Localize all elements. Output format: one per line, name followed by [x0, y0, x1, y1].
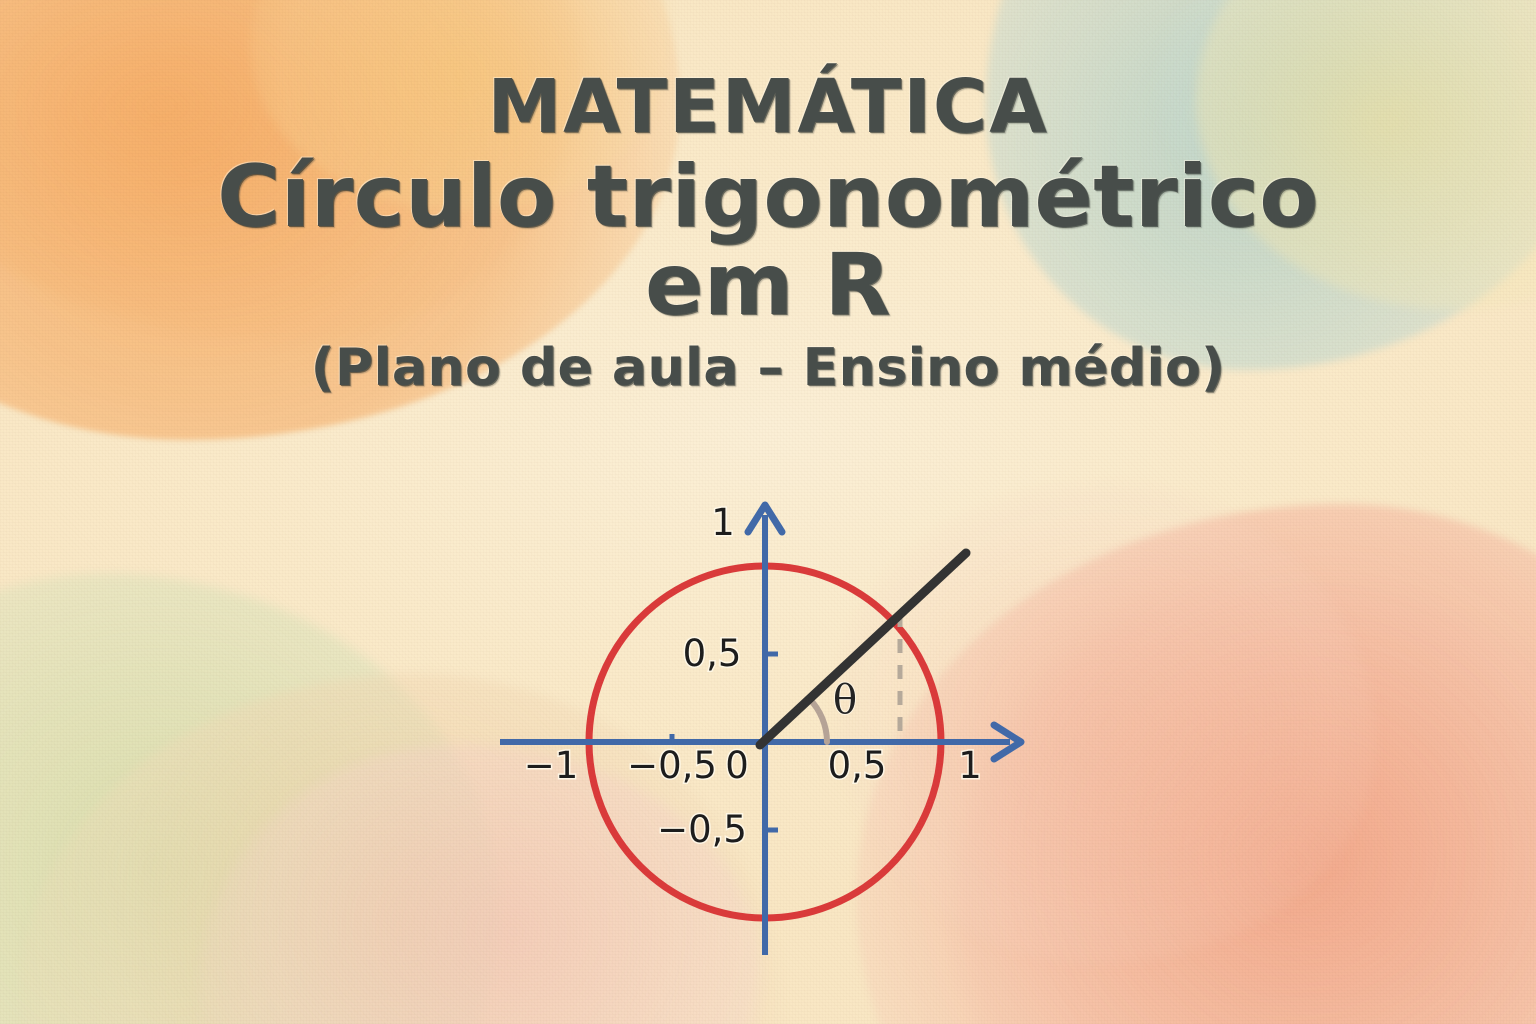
theta-angle-label: θ	[833, 677, 857, 723]
slide-canvas: MATEMÁTICA Círculo trigonométrico em R (…	[0, 0, 1536, 1024]
angle-arc	[809, 698, 827, 742]
page-title-line-2: em R	[0, 240, 1536, 331]
terminal-ray-line	[760, 553, 966, 745]
y-label-one: 1	[711, 501, 735, 544]
page-subtitle: (Plano de aula – Ensino médio)	[0, 341, 1536, 396]
x-label-minus-half: −0,5	[627, 744, 717, 787]
unit-circle-svg: −1 −0,5 0 0,5 1 1 0,5 −0,5 θ	[470, 485, 1090, 1015]
subject-heading: MATEMÁTICA	[0, 68, 1536, 146]
y-label-minus-half: −0,5	[657, 808, 747, 851]
x-label-half: 0,5	[828, 744, 887, 787]
page-title-line-1: Círculo trigonométrico	[0, 152, 1536, 243]
unit-circle-diagram: −1 −0,5 0 0,5 1 1 0,5 −0,5 θ	[470, 485, 1090, 1015]
x-label-minus-one: −1	[524, 744, 579, 787]
origin-label: 0	[725, 744, 749, 787]
x-label-one: 1	[958, 744, 982, 787]
title-block: MATEMÁTICA Círculo trigonométrico em R (…	[0, 68, 1536, 396]
y-label-half: 0,5	[683, 632, 742, 675]
